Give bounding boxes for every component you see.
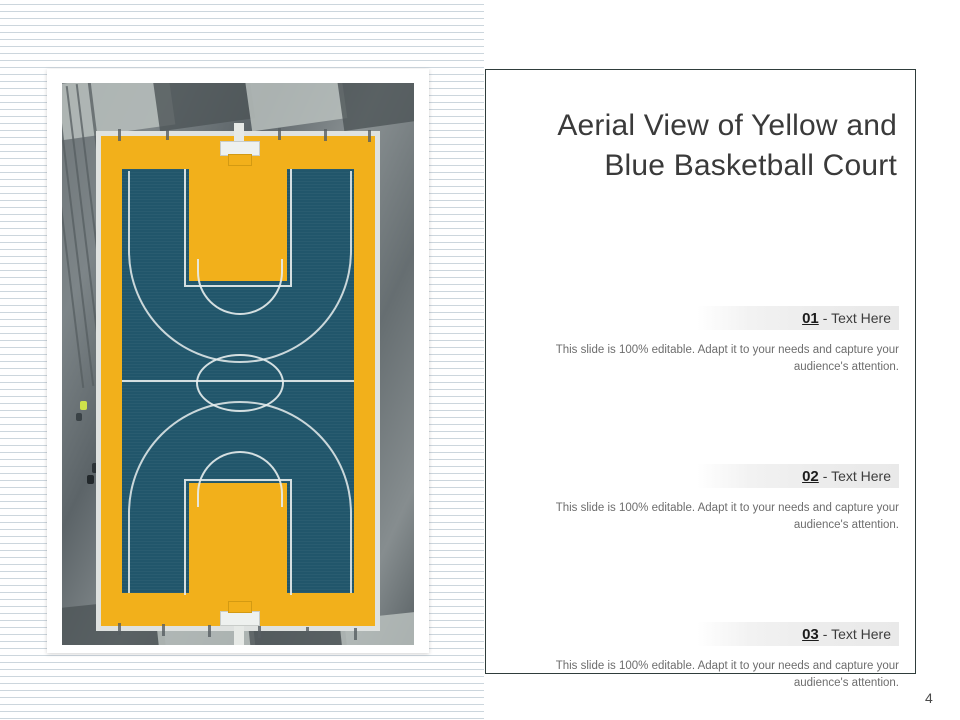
- center-circle: [196, 354, 284, 412]
- hoop-post-top: [234, 123, 244, 143]
- content-block-01: 01 - Text Here This slide is 100% editab…: [502, 306, 899, 376]
- fence-post: [162, 624, 165, 636]
- fence-post: [306, 627, 309, 639]
- block-header-bar-03[interactable]: 03 - Text Here: [697, 622, 899, 646]
- block-label-03: - Text Here: [823, 626, 891, 642]
- block-header-bar-02[interactable]: 02 - Text Here: [697, 464, 899, 488]
- content-block-03: 03 - Text Here This slide is 100% editab…: [502, 622, 899, 692]
- hoop-rim-top: [228, 154, 252, 166]
- fence-post: [258, 626, 261, 638]
- slide-canvas: Aerial View of Yellow and Blue Basketbal…: [0, 0, 960, 720]
- block-header-bar-01[interactable]: 01 - Text Here: [697, 306, 899, 330]
- block-number-01: 01: [802, 310, 819, 327]
- fence-post: [208, 625, 211, 637]
- fence-post: [278, 128, 281, 140]
- person-figure: [76, 413, 82, 421]
- fence-post: [354, 628, 357, 640]
- block-label-02: - Text Here: [823, 468, 891, 484]
- backboard-bottom: [220, 611, 260, 626]
- fence-post: [118, 623, 121, 635]
- fence-post: [118, 129, 121, 141]
- block-number-02: 02: [802, 468, 819, 485]
- person-figure: [87, 475, 94, 484]
- fence-post: [166, 128, 169, 140]
- content-panel: Aerial View of Yellow and Blue Basketbal…: [485, 69, 916, 674]
- person-figure: [80, 401, 87, 410]
- content-panel-inner: Aerial View of Yellow and Blue Basketbal…: [486, 70, 915, 673]
- hoop-rim-bottom: [228, 601, 252, 613]
- hoop-post-bottom: [234, 623, 244, 645]
- block-number-03: 03: [802, 626, 819, 643]
- content-block-02: 02 - Text Here This slide is 100% editab…: [502, 464, 899, 534]
- block-label-01: - Text Here: [823, 310, 891, 326]
- page-title: Aerial View of Yellow and Blue Basketbal…: [514, 106, 899, 186]
- photo-card: [47, 69, 429, 653]
- block-body-01: This slide is 100% editable. Adapt it to…: [502, 342, 899, 376]
- block-body-03: This slide is 100% editable. Adapt it to…: [502, 658, 899, 692]
- aerial-basketball-court-photo: [62, 83, 414, 645]
- fence-post: [324, 129, 327, 141]
- page-number: 4: [925, 690, 933, 706]
- block-body-02: This slide is 100% editable. Adapt it to…: [502, 500, 899, 534]
- fence-post: [368, 130, 371, 142]
- court-illustration: [62, 83, 414, 645]
